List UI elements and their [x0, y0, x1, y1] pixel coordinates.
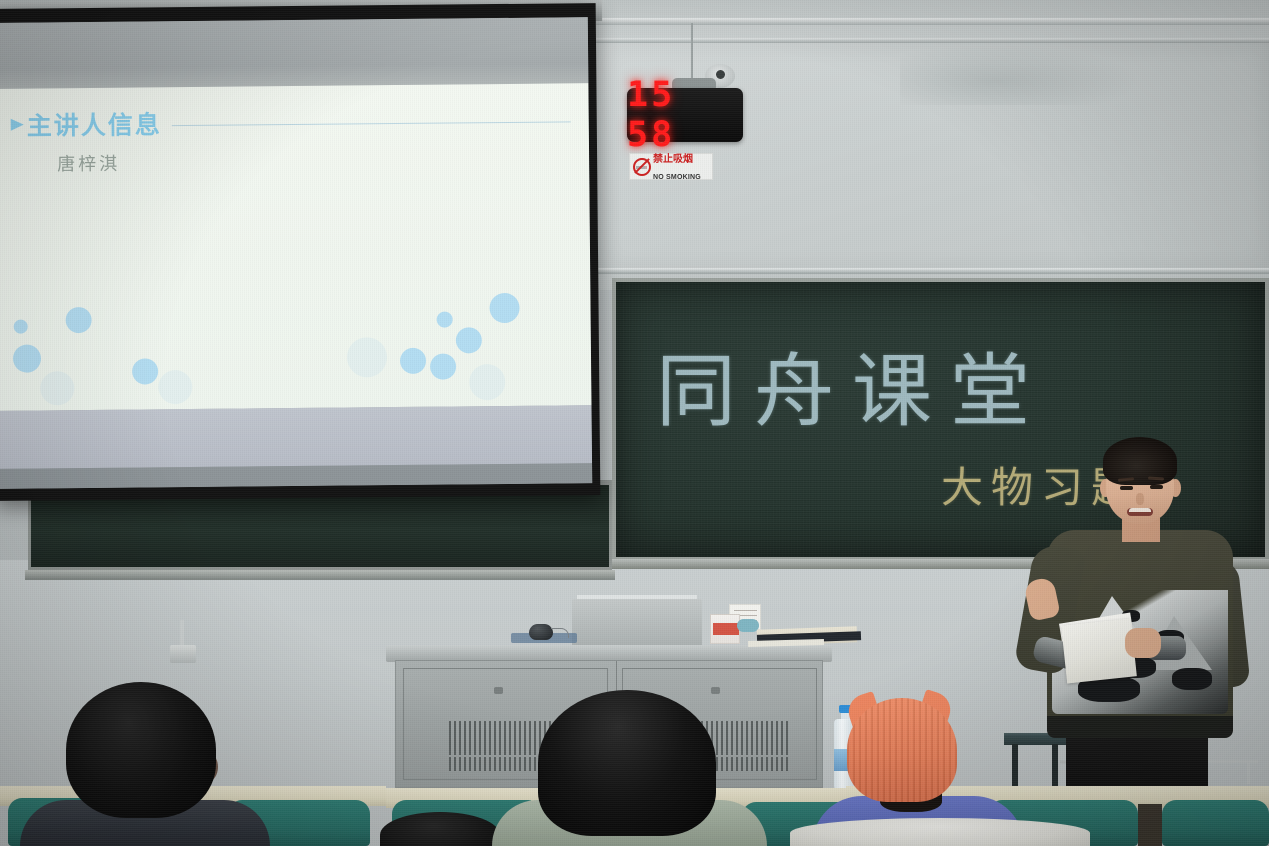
side-table-leg-right: [1052, 744, 1058, 788]
slide-bubble-8: [400, 348, 426, 374]
wall-smudge: [900, 45, 1140, 105]
slide-bottom-band: [0, 405, 592, 469]
slide-bubble-faint-0: [40, 371, 74, 405]
orange-cat-beanie: [847, 698, 957, 802]
computer-mouse[interactable]: [529, 624, 553, 640]
slide-bubble-1: [66, 307, 92, 333]
presenter-left-hand: [1125, 628, 1161, 658]
side-table-leg-left: [1012, 744, 1018, 788]
slide-bubble-5: [456, 327, 482, 353]
presentation-slide: 主讲人信息 唐梓淇: [0, 83, 591, 411]
presenter-eye-right: [1150, 485, 1163, 489]
slide-title-row: 主讲人信息: [11, 101, 571, 142]
red-label-box: [710, 614, 740, 644]
slide-bubble-0: [14, 320, 28, 334]
presenter-eye-left: [1120, 486, 1133, 490]
no-smoking-icon: [633, 158, 651, 176]
slide-presenter-name: 唐梓淇: [57, 150, 120, 177]
slide-top-band: [0, 17, 588, 89]
no-smoking-label-en: NO SMOKING: [653, 174, 701, 181]
chair-back-7[interactable]: [1162, 800, 1269, 846]
slide-bubble-faint-1: [158, 370, 192, 404]
teal-object: [737, 619, 759, 632]
wall-trim-rail-bottom: [596, 268, 1269, 274]
slide-bubble-7: [489, 293, 519, 323]
slide-bubble-6: [430, 353, 456, 379]
projector-screen: 主讲人信息 唐梓淇: [0, 3, 600, 501]
bullet-arrow-icon: [11, 119, 24, 131]
presenter-hair: [1103, 437, 1177, 485]
slide-bubble-faint-3: [469, 364, 505, 400]
student-front-right-fur-trim: [790, 818, 1090, 846]
slide-bubble-3: [132, 358, 158, 384]
slide-title-rule: [172, 121, 571, 126]
slide-bubble-faint-2: [347, 337, 387, 377]
slide-bubble-4: [437, 311, 453, 327]
chair-gap-3: [1138, 804, 1162, 846]
wall-trim-rail-top: [596, 18, 1269, 25]
slide-footer-shadow: [0, 463, 592, 489]
chalk-tray-left: [25, 570, 615, 580]
classroom-photo: 15 58 禁止吸烟 NO SMOKING 同舟课堂 大物习题 主讲人信息: [0, 0, 1269, 846]
wall-switch-plate[interactable]: [170, 645, 196, 663]
no-smoking-sign: 禁止吸烟 NO SMOKING: [629, 153, 713, 180]
chalkboard: 同舟课堂 大物习题: [612, 278, 1269, 564]
wall-switch-cable: [180, 620, 184, 648]
chalkboard-headline: 同舟课堂: [656, 327, 1048, 443]
student-front-left-head: [66, 682, 216, 818]
presenter-nose: [1136, 493, 1144, 505]
clock-time-display: 15 58: [627, 75, 743, 155]
mouse-cable: [551, 628, 569, 638]
no-smoking-label-cn: 禁止吸烟: [653, 154, 693, 165]
presenter-sweater-hem: [1047, 716, 1233, 738]
podium-lock-left[interactable]: [494, 687, 503, 694]
student-front-center-head: [538, 690, 716, 836]
podium-lock-right[interactable]: [711, 687, 720, 694]
slide-title: 主讲人信息: [27, 105, 162, 142]
computer-monitor-back: [572, 599, 702, 647]
projector-screen-surface: 主讲人信息 唐梓淇: [0, 17, 592, 489]
slide-body-text: [57, 184, 527, 189]
slide-bubble-2: [13, 344, 41, 372]
digital-clock: 15 58: [627, 88, 743, 142]
presenter-teeth: [1129, 508, 1151, 512]
wall-rail-vertical: [1247, 762, 1250, 784]
